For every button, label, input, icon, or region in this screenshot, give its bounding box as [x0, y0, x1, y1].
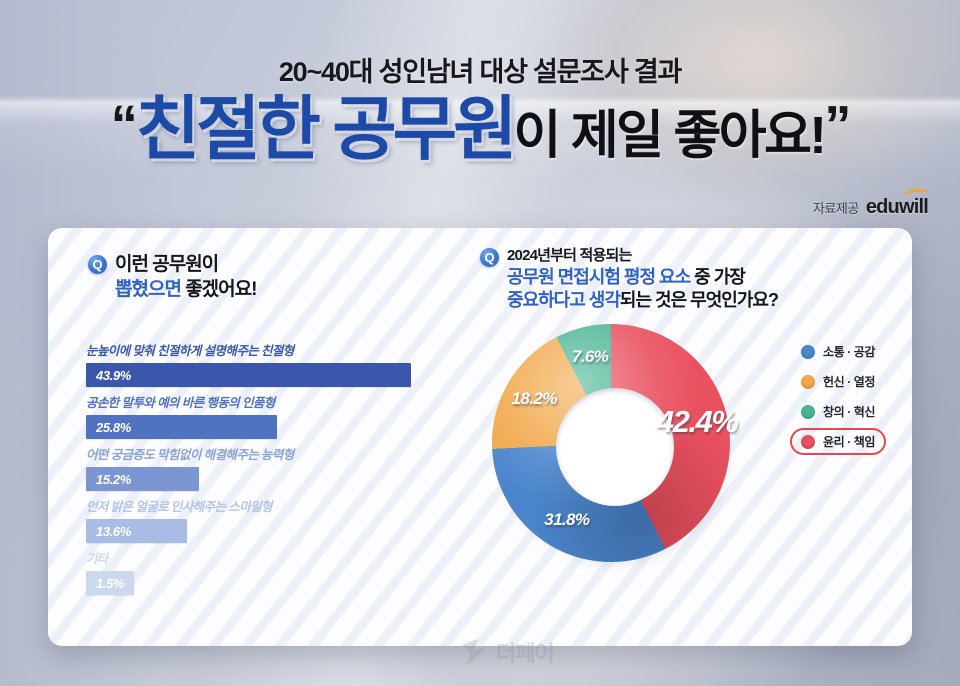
donut-slice-label: 18.2% — [512, 389, 557, 409]
right-question-line2-rest: 중 가장 — [690, 267, 745, 287]
legend-label: 헌신 · 열정 — [823, 373, 875, 390]
right-question-line2: 공무원 면접시험 평정 요소 중 가장 — [507, 266, 778, 289]
right-question-line1: 2024년부터 적용되는 — [507, 246, 778, 266]
bar-fill: 1.5% — [86, 571, 134, 595]
bar-fill: 43.9% — [86, 363, 411, 387]
right-question-line3: 중요하다고 생각되는 것은 무엇인가요? — [507, 289, 778, 312]
question-circle-icon — [88, 255, 107, 274]
bar-label: 공손한 말투와 예의 바른 행동의 인품형 — [86, 392, 438, 411]
left-question-line1: 이런 공무원이 — [115, 253, 256, 278]
legend-item[interactable]: 소통 · 공감 — [790, 338, 886, 365]
left-question-line2: 뽑혔으면 좋겠어요! — [115, 278, 256, 303]
eduwill-logo: eduwill — [866, 196, 928, 219]
bar-value: 15.2% — [86, 472, 131, 487]
bar-item: 먼저 밝은 얼굴로 인사해주는 스마일형13.6% — [86, 496, 438, 543]
question-circle-icon — [480, 248, 499, 267]
source-credit-label: 자료제공 — [813, 198, 859, 217]
bar-track: 43.9% — [86, 363, 438, 387]
donut-slice-label: 7.6% — [572, 347, 608, 367]
right-question-line3-accent: 중요하다고 생각 — [507, 290, 620, 310]
bar-track: 13.6% — [86, 519, 438, 543]
bar-track: 15.2% — [86, 467, 438, 491]
bar-track: 25.8% — [86, 415, 438, 439]
legend-color-swatch — [801, 345, 815, 359]
legend-color-swatch — [801, 405, 815, 419]
left-question-line2-accent: 뽑혔으면 — [115, 279, 181, 300]
donut-chart: 42.4%31.8%18.2%7.6% — [492, 324, 738, 570]
headline-highlight: 친절한 공무원 — [136, 90, 514, 168]
open-quote: “ — [111, 95, 136, 155]
header-kicker: 20~40대 성인남녀 대상 설문조사 결과 — [0, 50, 960, 89]
header: 20~40대 성인남녀 대상 설문조사 결과 “친절한 공무원이 제일 좋아요!… — [0, 0, 960, 228]
headline-rest: 이 제일 좋아요! — [514, 107, 825, 165]
infographic-page: 20~40대 성인남녀 대상 설문조사 결과 “친절한 공무원이 제일 좋아요!… — [0, 0, 960, 686]
donut-slice-label: 42.4% — [657, 404, 737, 440]
legend-item[interactable]: 창의 · 혁신 — [790, 398, 886, 425]
bar-chart: 눈높이에 맞춰 친절하게 설명해주는 친절형43.9%공손한 말투와 예의 바른… — [86, 340, 438, 600]
legend-item[interactable]: 윤리 · 책임 — [790, 428, 886, 455]
bar-item: 어떤 궁금증도 막힘없이 해결해주는 능력형15.2% — [86, 444, 438, 491]
right-question-line3-rest: 되는 것은 무엇인가요? — [620, 290, 778, 310]
donut-slice-label: 31.8% — [544, 510, 589, 530]
bar-fill: 13.6% — [86, 519, 187, 543]
legend-color-swatch — [801, 375, 815, 389]
left-question-line2-rest: 좋겠어요! — [181, 279, 257, 300]
bar-item: 공손한 말투와 예의 바른 행동의 인품형25.8% — [86, 392, 438, 439]
bar-fill: 15.2% — [86, 467, 199, 491]
bar-value: 1.5% — [86, 576, 124, 591]
header-headline: “친절한 공무원이 제일 좋아요!” — [0, 94, 960, 164]
legend-color-swatch — [801, 435, 815, 449]
bar-value: 13.6% — [86, 524, 131, 539]
eduwill-logo-text: eduwill — [866, 196, 928, 218]
source-credit: 자료제공 eduwill — [813, 196, 928, 219]
bar-item: 기타1.5% — [86, 548, 438, 595]
legend-label: 소통 · 공감 — [823, 343, 875, 360]
close-quote: ” — [824, 95, 849, 155]
legend-item[interactable]: 헌신 · 열정 — [790, 368, 886, 395]
bar-label: 먼저 밝은 얼굴로 인사해주는 스마일형 — [86, 496, 438, 515]
bar-item: 눈높이에 맞춰 친절하게 설명해주는 친절형43.9% — [86, 340, 438, 387]
legend-label: 창의 · 혁신 — [823, 403, 875, 420]
left-question-heading: 이런 공무원이 뽑혔으면 좋겠어요! — [88, 253, 256, 302]
bar-label: 어떤 궁금증도 막힘없이 해결해주는 능력형 — [86, 444, 438, 463]
bar-value: 25.8% — [86, 420, 131, 435]
donut-legend: 소통 · 공감헌신 · 열정창의 · 혁신윤리 · 책임 — [790, 338, 886, 458]
bar-track: 1.5% — [86, 571, 438, 595]
legend-label: 윤리 · 책임 — [823, 433, 875, 450]
bar-fill: 25.8% — [86, 415, 277, 439]
right-question-line2-accent: 공무원 면접시험 평정 요소 — [507, 267, 690, 287]
right-question-heading: 2024년부터 적용되는 공무원 면접시험 평정 요소 중 가장 중요하다고 생… — [480, 246, 778, 312]
bar-label: 눈높이에 맞춰 친절하게 설명해주는 친절형 — [86, 340, 438, 359]
bar-label: 기타 — [86, 548, 438, 567]
content-card: 이런 공무원이 뽑혔으면 좋겠어요! 눈높이에 맞춰 친절하게 설명해주는 친절… — [48, 228, 912, 646]
bar-value: 43.9% — [86, 368, 131, 383]
